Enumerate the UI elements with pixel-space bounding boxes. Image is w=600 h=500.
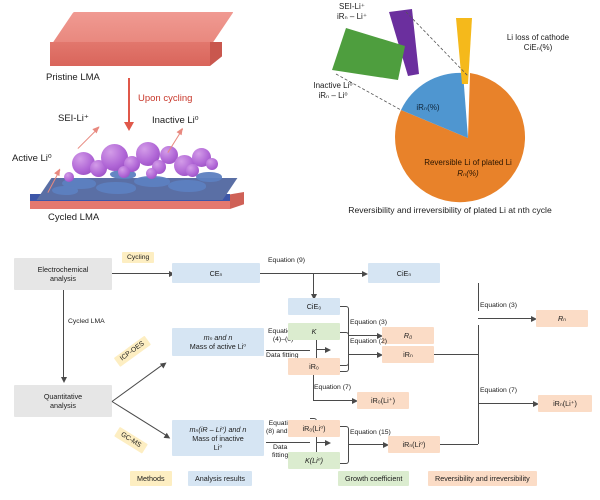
edge-cien-down: [478, 283, 479, 311]
node-irn-li0[interactable]: iRₙ(Li⁰): [388, 436, 440, 453]
node-mass-inactive-li[interactable]: mₙ(iR – Li⁰) and n Mass of inactive Li⁰: [172, 420, 264, 456]
tag-cycling[interactable]: Cycling: [122, 252, 154, 263]
sei-li-callout: SEI-Li⁺: [58, 113, 89, 125]
node-label-line1: mₙ(iR – Li⁰) and n: [190, 425, 247, 434]
node-cie-0[interactable]: CiE₀: [288, 298, 340, 315]
edge-to-irn-li0: [348, 444, 384, 445]
node-label: iR₀: [309, 362, 319, 371]
cycled-lma-label: Cycled LMA: [48, 212, 99, 224]
tag-gc-ms[interactable]: GC-MS: [114, 427, 148, 454]
sei-deposit: [52, 186, 78, 195]
li-nodule: [186, 164, 199, 177]
node-label-line1: mₙ and n: [204, 333, 233, 342]
node-label: Electrochemical analysis: [38, 265, 89, 283]
node-k[interactable]: K: [288, 323, 340, 340]
node-label: iR₀(Li⁰): [302, 424, 325, 433]
node-ce-n[interactable]: CEₙ: [172, 263, 260, 283]
pristine-lma-slab-front: [50, 42, 210, 66]
pie-label-reversible-line1: Reversible Li of plated Li: [388, 158, 548, 168]
node-irn-li-plus[interactable]: iRₙ(Li⁺): [538, 395, 592, 412]
pie-label-cathode-line1: Li loss of cathode: [476, 33, 600, 43]
li-nodule: [118, 166, 130, 178]
edge-label-eq9: Equation (9): [268, 257, 305, 264]
pie-slice-inactive: [332, 28, 405, 80]
node-label: CiEₙ: [397, 269, 411, 278]
edge-label-eq3a: Equation (3): [350, 319, 387, 326]
edge-electro-to-cen: [112, 273, 170, 274]
edge-label-data-fitting-2: Data fitting: [272, 444, 288, 460]
edge-to-ir0-lip: [313, 400, 353, 401]
pie-label-sei-line2: iRₙ – Li⁺: [310, 12, 394, 22]
node-label: iRₙ: [403, 350, 413, 359]
edge-join-vertical: [478, 403, 479, 444]
figure-root: Pristine LMA Upon cycling SEI-Li: [0, 0, 600, 500]
edge-label-eq15: Equation (15): [350, 429, 391, 436]
cycled-lma-base-side: [230, 192, 244, 209]
node-label: Quantitative analysis: [44, 392, 82, 410]
edge-irn-up: [478, 325, 479, 355]
node-label-line2: Mass of active Li⁰: [190, 342, 246, 351]
sei-deposit: [196, 172, 222, 182]
edge-label-eq7b: Equation (7): [480, 387, 517, 394]
node-label: Rₙ: [558, 314, 566, 323]
node-k-li0[interactable]: K(Li⁰): [288, 452, 340, 469]
node-label: K: [312, 327, 317, 336]
edge-to-r0: [348, 335, 378, 336]
pie-label-reversible-line2: Rₙ(%): [388, 169, 548, 179]
node-r-n[interactable]: Rₙ: [536, 310, 588, 327]
divider-eq8-16: [266, 442, 310, 443]
node-label: CiE₀: [307, 302, 322, 311]
legend-analysis-results: Analysis results: [188, 471, 252, 486]
tag-icp-oes[interactable]: ICP-OES: [114, 336, 151, 367]
node-quantitative-analysis[interactable]: Quantitative analysis: [14, 385, 112, 417]
sei-li-pointer-icon: [78, 127, 100, 149]
edge-eq816-out: [316, 442, 326, 443]
li-nodule: [146, 168, 157, 179]
node-electrochemical-analysis[interactable]: Electrochemical analysis: [14, 258, 112, 290]
node-label: iR₀(Li⁺): [371, 396, 395, 405]
pie-label-inactive-line1: Inactive Li⁰: [294, 81, 372, 91]
upon-cycling-arrow-icon: [128, 78, 130, 124]
edge-eq46-out: [316, 349, 326, 350]
legend-reversibility: Reversibility and irreversibility: [428, 471, 537, 486]
edge-irn-right: [434, 354, 478, 355]
edge-quant-to-mass-active: [112, 365, 163, 402]
active-li-callout: Active Li⁰: [12, 153, 52, 165]
edge-cen-to-cien: [260, 273, 363, 274]
node-label-line3: Li⁰: [214, 443, 222, 452]
pie-label-inactive-line2: iRₙ – Li⁰: [294, 91, 372, 101]
node-label: CEₙ: [210, 269, 223, 278]
edge-to-irn: [348, 354, 378, 355]
sei-deposit: [96, 182, 136, 194]
brace-to-irn-li0: [340, 426, 349, 464]
edge-irn-down-right: [478, 354, 479, 404]
node-label: iRₙ(Li⁺): [553, 399, 577, 408]
schematic-panel: Pristine LMA Upon cycling SEI-Li: [0, 0, 300, 232]
pristine-lma-slab-side: [210, 42, 222, 66]
sei-deposit: [168, 180, 206, 192]
node-cie-n[interactable]: CiEₙ: [368, 263, 440, 283]
pristine-lma-slab-top: [51, 12, 234, 46]
node-ir-0[interactable]: iR₀: [288, 358, 340, 375]
legend-growth-coefficient: Growth coefficient: [338, 471, 409, 486]
node-ir-n[interactable]: iRₙ: [382, 346, 434, 363]
node-r-0[interactable]: R₀: [382, 327, 434, 344]
node-label: R₀: [404, 331, 412, 340]
li-nodule: [206, 158, 218, 170]
edge-label-eq7a: Equation (7): [314, 384, 351, 391]
pie-label-sei-line1: SEI-Li⁺: [310, 2, 394, 12]
inactive-li-callout: Inactive Li⁰: [152, 115, 199, 127]
node-label: iRₙ(Li⁰): [403, 440, 426, 449]
edge-electro-to-quant: [63, 290, 64, 378]
node-label: K(Li⁰): [305, 456, 323, 465]
pie-chart-panel: SEI-Li⁺ iRₙ – Li⁺ Inactive Li⁰ iRₙ – Li⁰…: [300, 0, 600, 232]
divider-eq4-6: [266, 350, 310, 351]
pristine-lma-label: Pristine LMA: [46, 72, 100, 84]
edge-to-irn-lip: [478, 403, 534, 404]
pie-chart-caption: Reversibility and irreversibility of pla…: [300, 205, 600, 215]
edge-label-eq3b: Equation (3): [480, 302, 517, 309]
li-nodule: [64, 172, 74, 182]
brace-to-irn: [340, 332, 349, 372]
edge-label-eq2: Equation (2): [350, 338, 387, 345]
node-label-line2: Mass of inactive: [192, 434, 244, 443]
node-ir0-li-plus[interactable]: iR₀(Li⁺): [357, 392, 409, 409]
edge-irnli0-right: [440, 444, 478, 445]
upon-cycling-label: Upon cycling: [138, 93, 192, 105]
edge-to-rn: [478, 318, 532, 319]
edge-label-cycled-lma: Cycled LMA: [68, 318, 105, 325]
edge-down-to-cie0: [313, 273, 314, 295]
pie-label-cathode-line2: CiEₙ(%): [476, 43, 600, 53]
pie-label-irn: iRₙ(%): [398, 103, 458, 113]
node-mass-active-li[interactable]: mₙ and n Mass of active Li⁰: [172, 328, 264, 356]
flowchart-panel: Electrochemical analysis Quantitative an…: [0, 240, 600, 500]
node-ir0-li0[interactable]: iR₀(Li⁰): [288, 420, 340, 437]
legend-methods: Methods: [130, 471, 172, 486]
